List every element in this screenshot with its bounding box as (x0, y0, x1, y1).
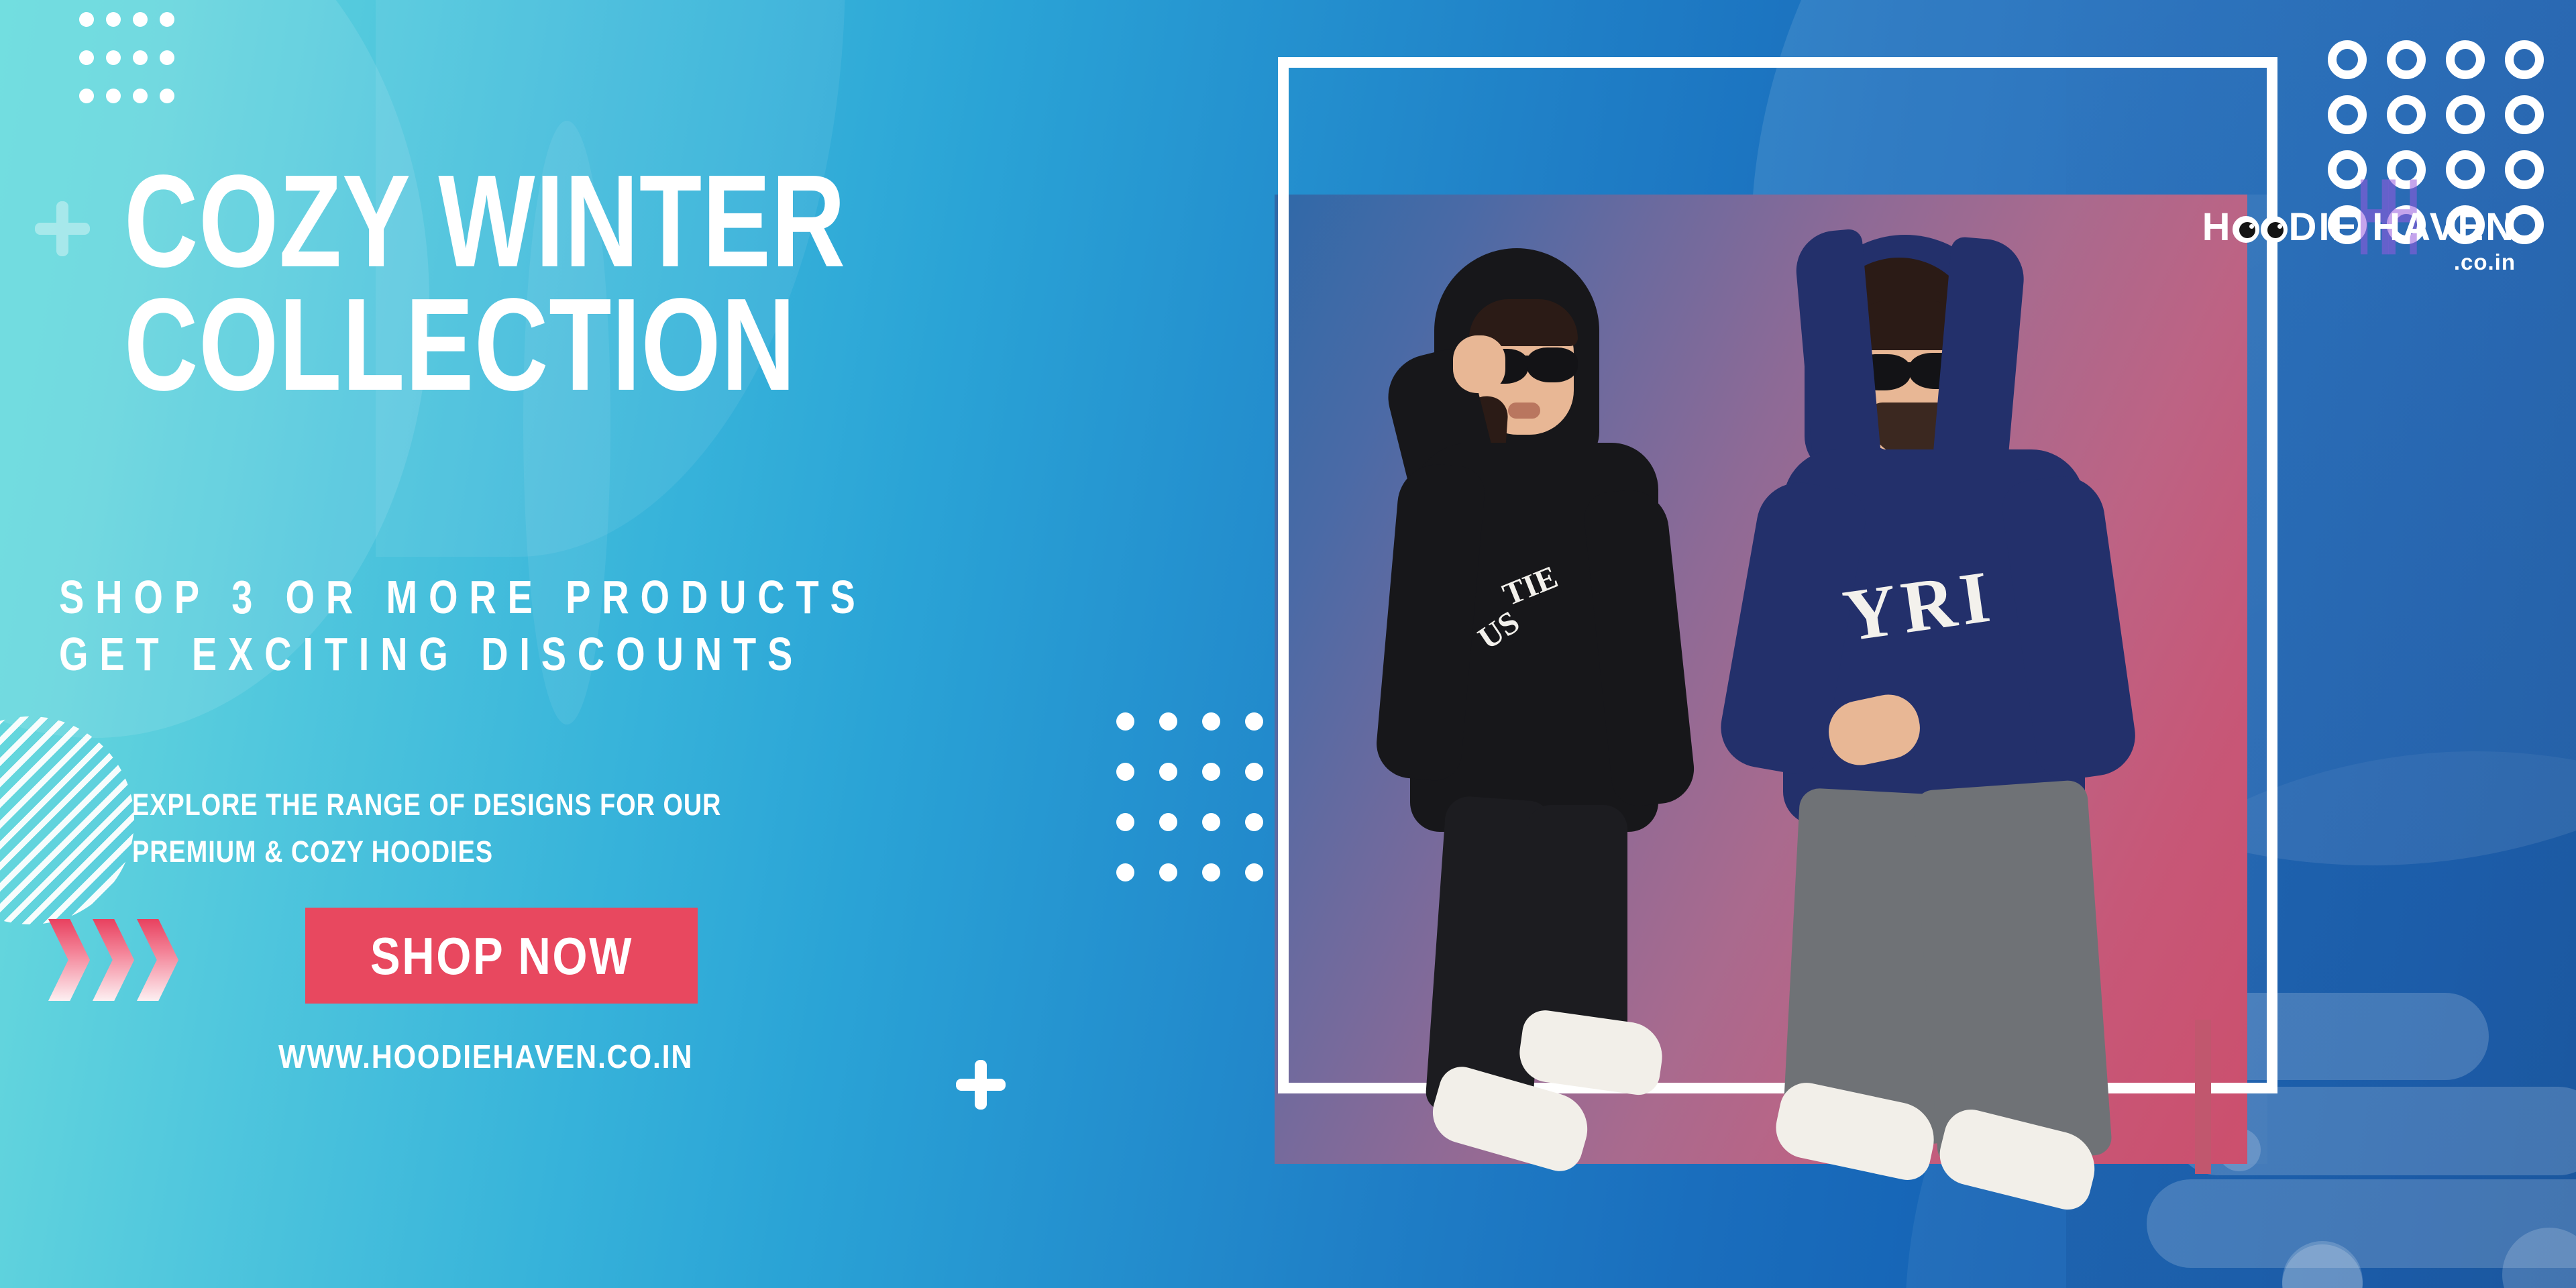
shop-now-label: SHOP NOW (370, 930, 633, 982)
hoodie-graphic-text: YRI (1839, 559, 1999, 653)
pink-accent-bar (2195, 1020, 2211, 1174)
logo-name-part2: DIE HAVEN (2288, 205, 2516, 249)
model-female-figure: TIE US (1335, 221, 1751, 1181)
product-photo-zone: TIE US (1275, 0, 2576, 1288)
website-url[interactable]: WWW.HOODIEHAVEN.CO.IN (278, 1038, 693, 1076)
logo-name-part1: H (2202, 205, 2233, 249)
body-copy: EXPLORE THE RANGE OF DESIGNS FOR OUR PRE… (132, 782, 893, 875)
promo-subheading: SHOP 3 OR MORE PRODUCTS GET EXCITING DIS… (59, 569, 1025, 684)
eye-icon (2261, 216, 2288, 243)
brand-name: HDIE HAVEN (2202, 208, 2516, 247)
promo-banner: COZY WINTER COLLECTION SHOP 3 OR MORE PR… (0, 0, 2576, 1288)
page-title: COZY WINTER COLLECTION (124, 160, 961, 407)
chevron-arrows-icon (48, 919, 178, 1001)
model-male-figure: YRI (1704, 201, 2173, 1187)
eye-icon (2233, 216, 2259, 243)
chevron-icon (93, 919, 134, 1001)
shop-now-button[interactable]: SHOP NOW (305, 908, 698, 1004)
sunglasses-icon (1527, 347, 1578, 382)
content-column: COZY WINTER COLLECTION SHOP 3 OR MORE PR… (0, 0, 1275, 1288)
chevron-icon (137, 919, 178, 1001)
chevron-icon (48, 919, 90, 1001)
brand-logo: HH HDIE HAVEN .co.in (2202, 208, 2516, 275)
